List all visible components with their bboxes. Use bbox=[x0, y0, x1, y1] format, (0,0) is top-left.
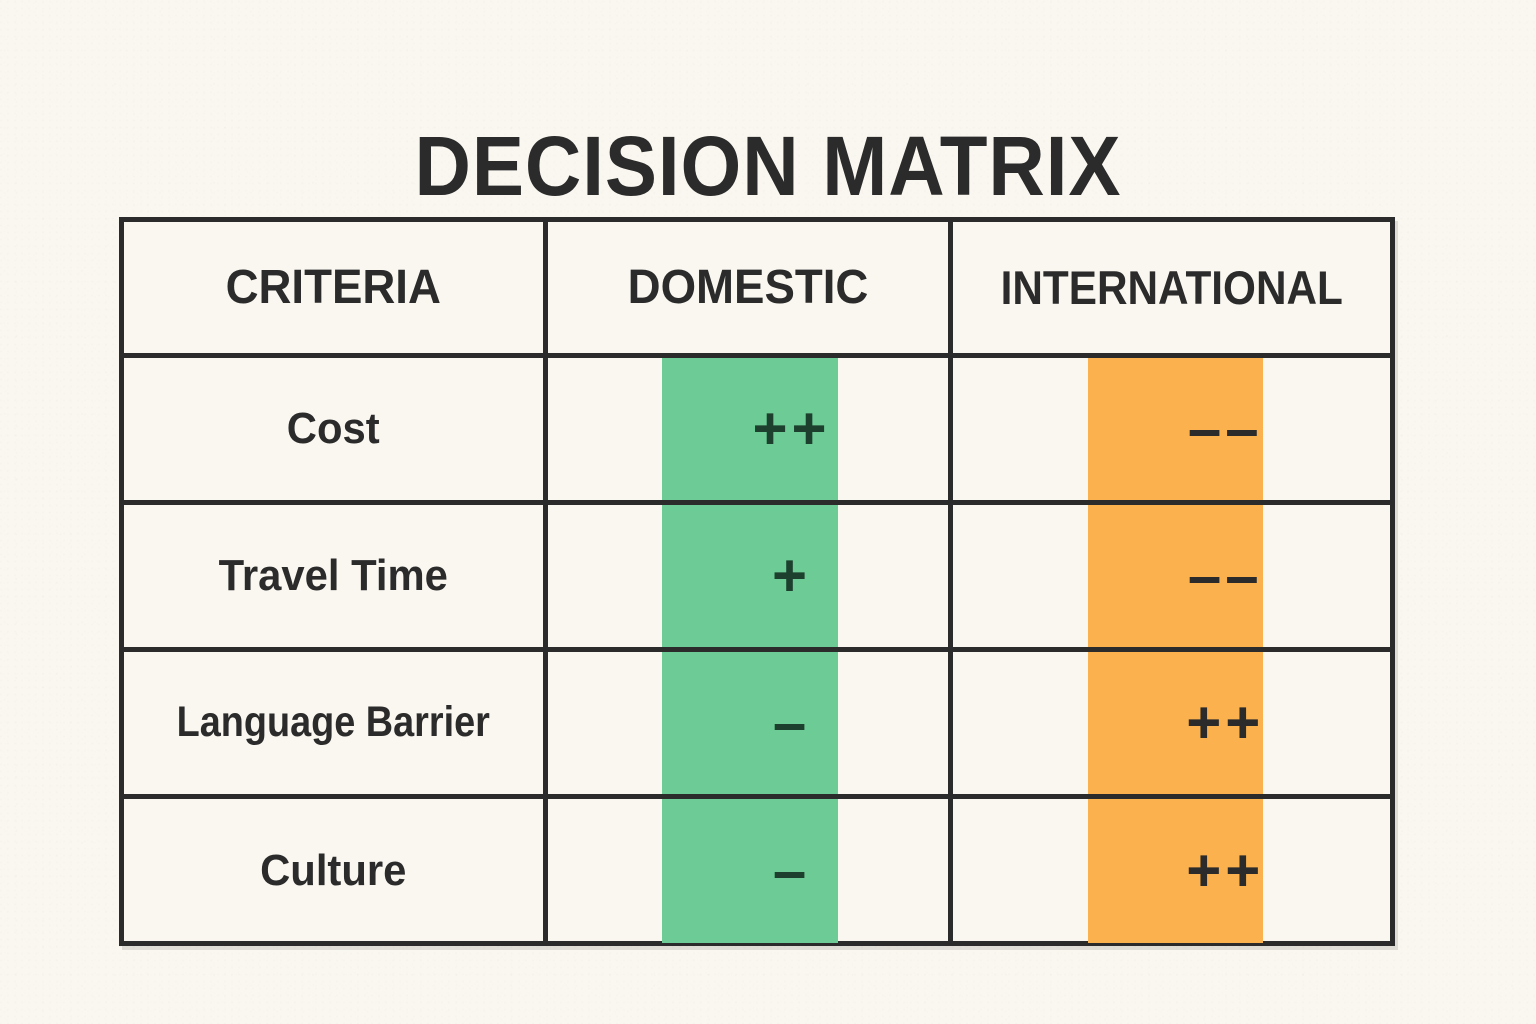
score-glyph: ++ bbox=[1186, 841, 1264, 901]
score-glyph: ++ bbox=[752, 399, 830, 459]
cell-domestic-cost: ++ bbox=[545, 355, 950, 502]
table-header: CRITERIA DOMESTIC INTERNATIONAL bbox=[124, 222, 1390, 355]
cell-international-language-barrier: ++ bbox=[950, 649, 1390, 796]
column-header-international-label: INTERNATIONAL bbox=[974, 260, 1368, 315]
score-glyph: – bbox=[773, 841, 810, 901]
cell-domestic-culture: – bbox=[545, 796, 950, 943]
cell-domestic-language-barrier: – bbox=[545, 649, 950, 796]
column-header-international: INTERNATIONAL bbox=[950, 222, 1390, 355]
column-header-domestic: DOMESTIC bbox=[545, 222, 950, 355]
score-domestic-travel-time: + bbox=[548, 505, 948, 647]
row-label-cost: Cost bbox=[134, 404, 532, 454]
page-title: DECISION MATRIX bbox=[54, 124, 1482, 208]
cell-domestic-travel-time: + bbox=[545, 502, 950, 649]
cell-international-travel-time: –– bbox=[950, 502, 1390, 649]
score-glyph: – bbox=[773, 693, 810, 753]
score-domestic-culture: – bbox=[548, 799, 948, 944]
cell-international-culture: ++ bbox=[950, 796, 1390, 943]
decision-matrix-table: CRITERIA DOMESTIC INTERNATIONAL Cost ++ bbox=[119, 217, 1395, 946]
score-international-cost: –– bbox=[953, 358, 1391, 500]
score-glyph: –– bbox=[1188, 399, 1263, 459]
table-row: Cost ++ –– bbox=[124, 355, 1390, 502]
row-label-culture: Culture bbox=[134, 846, 532, 896]
table-body: Cost ++ –– Travel Time bbox=[124, 355, 1390, 943]
row-label-travel-time: Travel Time bbox=[134, 551, 532, 601]
table-row: Language Barrier – ++ bbox=[124, 649, 1390, 796]
column-header-domestic-label: DOMESTIC bbox=[558, 260, 938, 315]
score-domestic-cost: ++ bbox=[548, 358, 948, 500]
score-international-travel-time: –– bbox=[953, 505, 1391, 647]
column-header-criteria-label: CRITERIA bbox=[134, 260, 532, 315]
column-header-criteria: CRITERIA bbox=[124, 222, 545, 355]
cell-international-cost: –– bbox=[950, 355, 1390, 502]
score-glyph: ++ bbox=[1186, 693, 1264, 753]
cell-criteria-culture: Culture bbox=[124, 796, 545, 943]
score-glyph: –– bbox=[1188, 546, 1263, 606]
table-row: Culture – ++ bbox=[124, 796, 1390, 943]
matrix-grid: CRITERIA DOMESTIC INTERNATIONAL Cost ++ bbox=[124, 222, 1390, 943]
score-international-culture: ++ bbox=[953, 799, 1391, 944]
cell-criteria-language-barrier: Language Barrier bbox=[124, 649, 545, 796]
score-glyph: + bbox=[772, 546, 811, 606]
cell-criteria-travel-time: Travel Time bbox=[124, 502, 545, 649]
cell-criteria-cost: Cost bbox=[124, 355, 545, 502]
score-international-language-barrier: ++ bbox=[953, 652, 1391, 794]
score-domestic-language-barrier: – bbox=[548, 652, 948, 794]
table-row: Travel Time + –– bbox=[124, 502, 1390, 649]
header-row: CRITERIA DOMESTIC INTERNATIONAL bbox=[124, 222, 1390, 355]
row-label-language-barrier: Language Barrier bbox=[149, 698, 517, 747]
